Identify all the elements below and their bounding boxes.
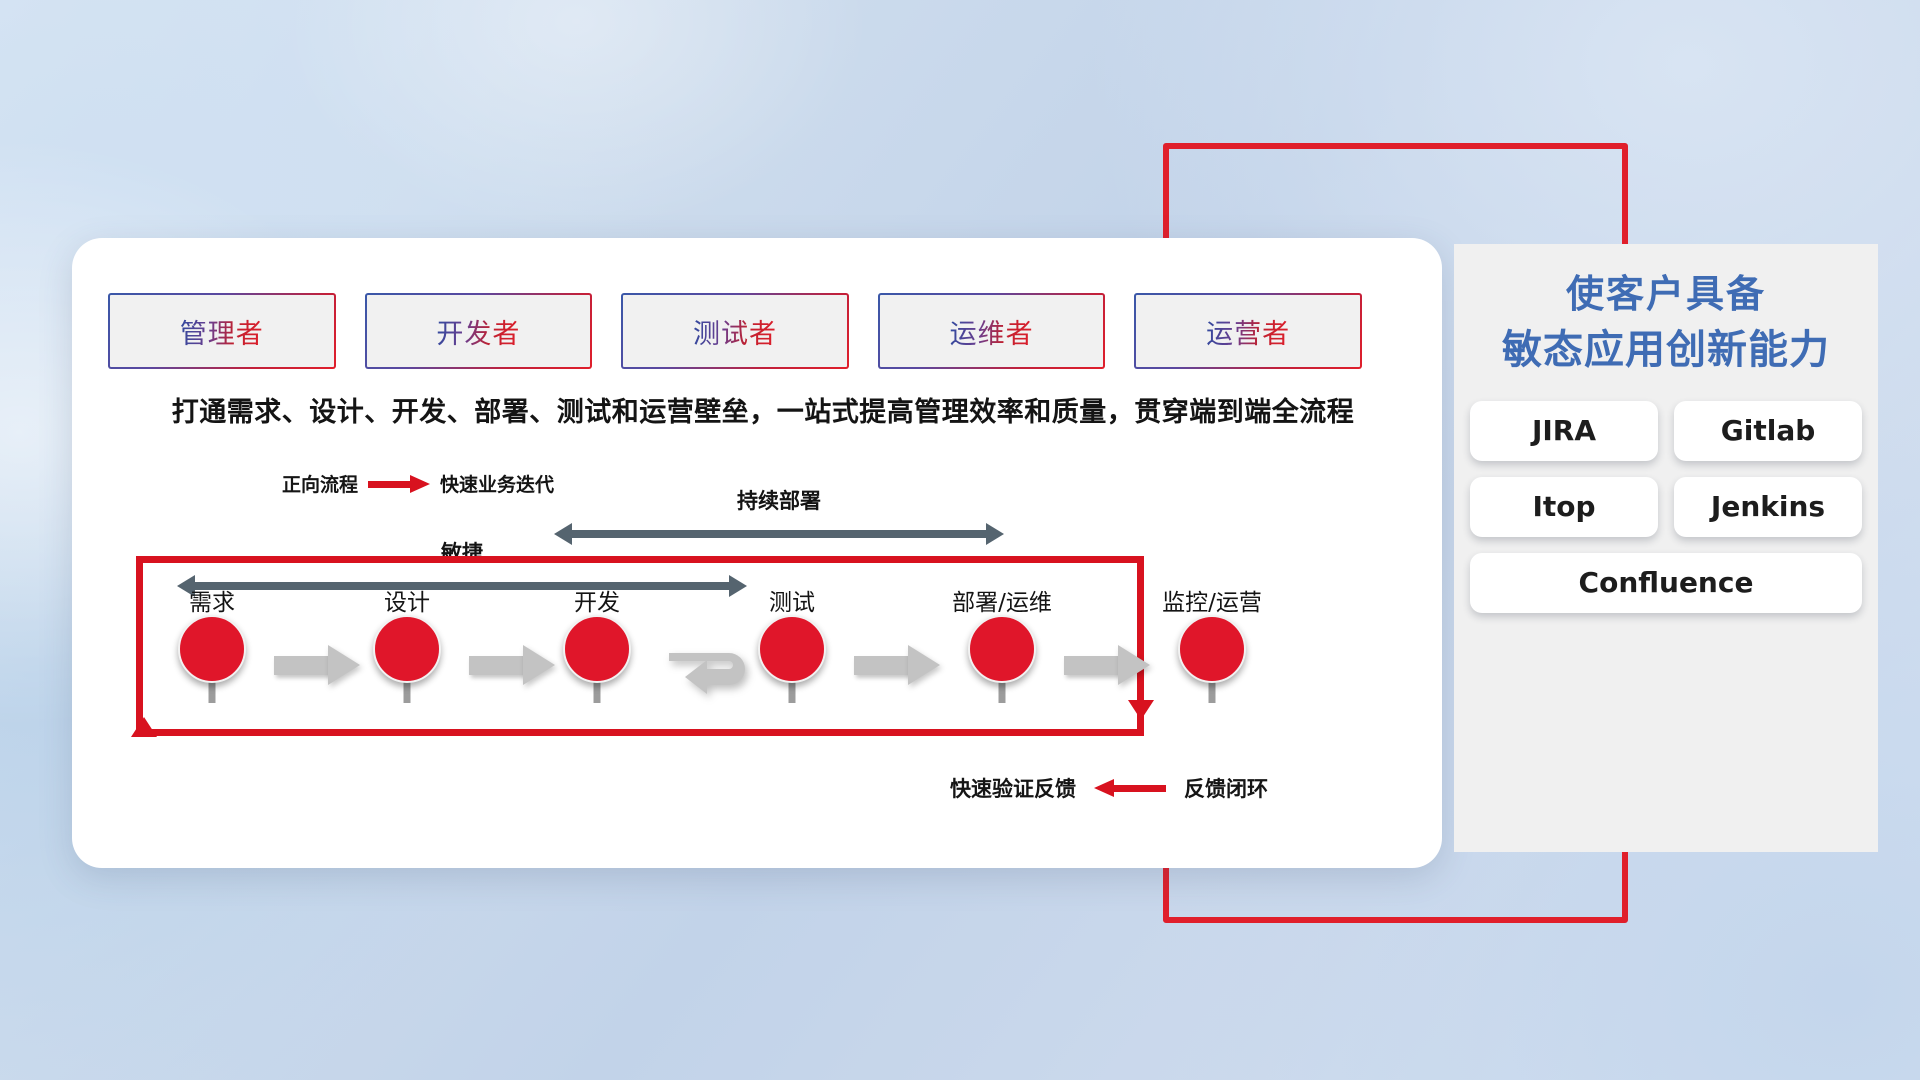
- node-dot: [758, 615, 826, 683]
- arrow-shaft: [1064, 656, 1120, 675]
- tool-chip-itop[interactable]: Itop: [1470, 477, 1658, 537]
- node-dot: [178, 615, 246, 683]
- node-dot: [1178, 615, 1246, 683]
- pipeline-row: 需求 设计 开发 测试: [102, 583, 1412, 743]
- node-label: 监控/运营: [1162, 583, 1262, 617]
- role-box-tester[interactable]: 测试者: [623, 295, 847, 367]
- arrow-shaft: [469, 656, 525, 675]
- node-dot: [968, 615, 1036, 683]
- continuous-deployment-label: 持续部署: [554, 485, 1004, 515]
- role-box-manager[interactable]: 管理者: [110, 295, 334, 367]
- gray-arrow-icon: [1064, 645, 1150, 685]
- role-label: 开发者: [436, 312, 520, 351]
- arrow-head: [908, 645, 940, 685]
- forward-flow-right-label: 快速业务迭代: [440, 470, 554, 497]
- tool-chip-grid: JIRA Gitlab Itop Jenkins Confluence: [1470, 401, 1862, 613]
- tool-chip-confluence[interactable]: Confluence: [1470, 553, 1862, 613]
- role-box-ops[interactable]: 运维者: [880, 295, 1104, 367]
- tool-chip-jira[interactable]: JIRA: [1470, 401, 1658, 461]
- tools-panel: 使客户具备 敏态应用创新能力 JIRA Gitlab Itop Jenkins …: [1454, 244, 1878, 852]
- tagline-text: 打通需求、设计、开发、部署、测试和运营壁垒，一站式提高管理效率和质量，贯穿端到端…: [118, 390, 1408, 429]
- role-box-row: 管理者 开发者 测试者 运维者 运营者: [110, 295, 1360, 367]
- node-dot: [373, 615, 441, 683]
- arrow-shaft: [274, 656, 330, 675]
- red-arrow-left-icon: [1094, 779, 1166, 797]
- role-box-operations[interactable]: 运营者: [1136, 295, 1360, 367]
- panel-title-line2: 敏态应用创新能力: [1454, 322, 1878, 379]
- forward-flow-note: 正向流程 快速业务迭代: [282, 470, 554, 497]
- arrow-head: [328, 645, 360, 685]
- node-label: 部署/运维: [952, 583, 1052, 617]
- node-label: 设计: [384, 583, 430, 617]
- feedback-right-label: 反馈闭环: [1184, 773, 1268, 803]
- node-dot: [563, 615, 631, 683]
- tool-chip-jenkins[interactable]: Jenkins: [1674, 477, 1862, 537]
- tool-chip-gitlab[interactable]: Gitlab: [1674, 401, 1862, 461]
- panel-title: 使客户具备 敏态应用创新能力: [1454, 244, 1878, 379]
- role-label: 测试者: [693, 312, 777, 351]
- u-turn-cycle-arrow-icon: [667, 641, 772, 703]
- gray-arrow-icon: [854, 645, 940, 685]
- arrow-head: [1118, 645, 1150, 685]
- node-label: 需求: [189, 583, 235, 617]
- role-box-developer[interactable]: 开发者: [367, 295, 591, 367]
- role-label: 管理者: [180, 312, 264, 351]
- arrow-head-right-icon: [986, 523, 1004, 545]
- role-label: 运营者: [1206, 312, 1290, 351]
- arrow-shaft: [854, 656, 910, 675]
- gray-arrow-icon: [469, 645, 555, 685]
- forward-flow-left-label: 正向流程: [282, 470, 358, 497]
- arrow-head: [523, 645, 555, 685]
- feedback-note: 快速验证反馈 反馈闭环: [950, 773, 1268, 803]
- red-arrow-right-icon: [368, 475, 430, 493]
- role-label: 运维者: [950, 312, 1034, 351]
- node-label: 开发: [574, 583, 620, 617]
- panel-title-line1: 使客户具备: [1454, 268, 1878, 322]
- feedback-left-label: 快速验证反馈: [950, 773, 1076, 803]
- node-label: 测试: [769, 583, 815, 617]
- gray-arrow-icon: [274, 645, 360, 685]
- main-diagram-card: 管理者 开发者 测试者 运维者 运营者 打通需求、设计、开发、部署、测试和运营壁…: [72, 238, 1442, 868]
